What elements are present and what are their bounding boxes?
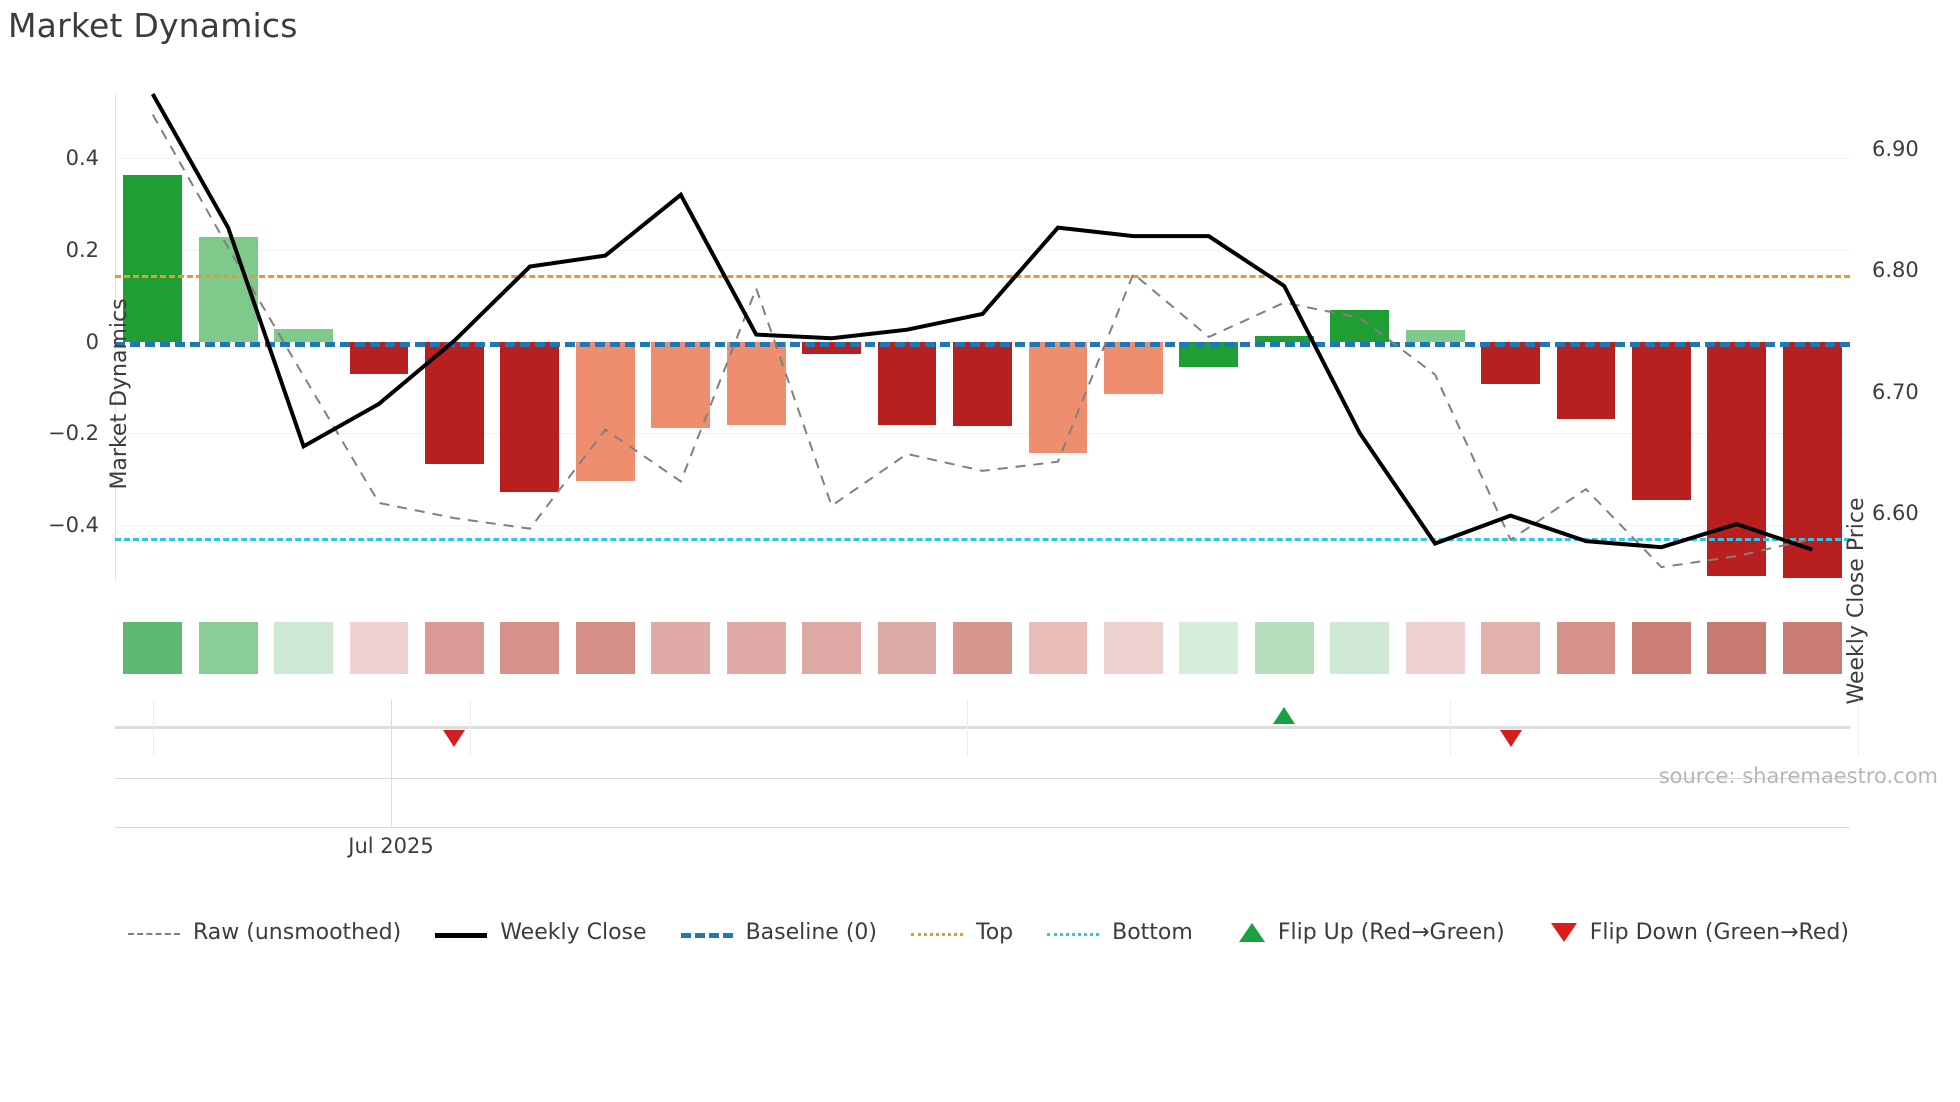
triangle-down-icon: [1551, 923, 1577, 942]
chart-root: Market Dynamics 0.40.20−0.2−0.4 6.906.80…: [0, 0, 1960, 1102]
legend-item-flip-down-green-red[interactable]: Flip Down (Green→Red): [1539, 920, 1849, 945]
flip-panel-gridline: [1450, 700, 1451, 756]
heatmap-cell-w23[interactable]: [1783, 622, 1842, 674]
legend-line-swatch: [435, 933, 487, 938]
line-series: [115, 94, 1850, 580]
heatmap-cell-w2[interactable]: [199, 622, 258, 674]
legend-label: Top: [976, 920, 1013, 945]
source-note: source: sharemaestro.com: [1659, 764, 1938, 788]
legend-swatch: [681, 924, 733, 942]
flip-marker-up[interactable]: [1273, 707, 1295, 724]
legend-line-swatch: [911, 933, 963, 936]
legend-item-bottom[interactable]: Bottom: [1047, 920, 1193, 945]
legend-label: Weekly Close: [500, 920, 646, 945]
line-weekly-close: [153, 94, 1813, 550]
heatmap-cell-w7[interactable]: [576, 622, 635, 674]
legend-line-swatch: [681, 933, 733, 938]
x-tick-mark-jul: [391, 700, 392, 828]
heatmap-cell-w4[interactable]: [350, 622, 409, 674]
heatmap-cell-w18[interactable]: [1406, 622, 1465, 674]
regime-heatmap-strip: [115, 616, 1850, 676]
heatmap-cell-w5[interactable]: [425, 622, 484, 674]
x-tick-label-jul: Jul 2025: [348, 834, 433, 858]
right-tick-label: 6.70: [1872, 380, 1919, 404]
heatmap-cell-w10[interactable]: [802, 622, 861, 674]
heatmap-cell-w9[interactable]: [727, 622, 786, 674]
heatmap-cell-w22[interactable]: [1707, 622, 1766, 674]
legend-label: Flip Up (Red→Green): [1278, 920, 1505, 945]
left-tick-label: 0.2: [19, 238, 99, 262]
heatmap-cell-w11[interactable]: [878, 622, 937, 674]
right-tick-label: 6.90: [1872, 137, 1919, 161]
x-axis-panel: Jul 2025: [115, 778, 1850, 828]
legend-swatch: [435, 924, 487, 942]
left-tick-label: −0.2: [19, 421, 99, 445]
flip-panel-gridline: [967, 700, 968, 756]
line-raw-unsmoothed: [153, 115, 1813, 568]
heatmap-cell-w12[interactable]: [953, 622, 1012, 674]
flip-panel-gridline: [470, 700, 471, 756]
flip-marker-down[interactable]: [1500, 730, 1522, 747]
heatmap-cell-w1[interactable]: [123, 622, 182, 674]
bottom-axis-spine: [115, 827, 1850, 828]
legend-swatch: [1047, 924, 1099, 942]
legend-label: Flip Down (Green→Red): [1590, 920, 1849, 945]
heatmap-cell-w15[interactable]: [1179, 622, 1238, 674]
legend-item-weekly-close[interactable]: Weekly Close: [435, 920, 646, 945]
flip-panel-gridline: [153, 700, 154, 756]
right-tick-label: 6.80: [1872, 258, 1919, 282]
flip-marker-panel: [115, 700, 1850, 778]
heatmap-cell-w19[interactable]: [1481, 622, 1540, 674]
heatmap-cell-w3[interactable]: [274, 622, 333, 674]
legend-item-top[interactable]: Top: [911, 920, 1013, 945]
axis-rule-upper: [115, 778, 1850, 779]
flip-marker-down[interactable]: [443, 730, 465, 747]
legend-label: Baseline (0): [746, 920, 877, 945]
left-tick-label: 0.4: [19, 146, 99, 170]
heatmap-cell-w14[interactable]: [1104, 622, 1163, 674]
heatmap-cell-w21[interactable]: [1632, 622, 1691, 674]
legend-item-baseline-0[interactable]: Baseline (0): [681, 920, 877, 945]
page-title: Market Dynamics: [8, 6, 298, 45]
flip-panel-gridline: [1858, 700, 1859, 756]
legend-item-raw-unsmoothed[interactable]: Raw (unsmoothed): [128, 920, 401, 945]
left-axis-label: Market Dynamics: [107, 298, 132, 489]
legend-item-flip-up-red-green[interactable]: Flip Up (Red→Green): [1227, 920, 1505, 945]
heatmap-cell-w20[interactable]: [1557, 622, 1616, 674]
legend-label: Bottom: [1112, 920, 1193, 945]
legend-swatch: [128, 924, 180, 942]
legend-swatch: [911, 924, 963, 942]
left-tick-label: −0.4: [19, 513, 99, 537]
heatmap-cell-w8[interactable]: [651, 622, 710, 674]
main-chart-panel: 0.40.20−0.2−0.4 6.906.806.706.60 Market …: [115, 94, 1850, 580]
legend-label: Raw (unsmoothed): [193, 920, 401, 945]
heatmap-cell-w6[interactable]: [500, 622, 559, 674]
legend-line-swatch: [128, 933, 180, 935]
heatmap-cell-w16[interactable]: [1255, 622, 1314, 674]
right-tick-label: 6.60: [1872, 501, 1919, 525]
flip-baseline: [115, 726, 1850, 729]
legend: Raw (unsmoothed)Weekly CloseBaseline (0)…: [128, 920, 1883, 945]
triangle-up-icon: [1239, 923, 1265, 942]
heatmap-cell-w13[interactable]: [1029, 622, 1088, 674]
heatmap-cell-w17[interactable]: [1330, 622, 1389, 674]
left-tick-label: 0: [19, 330, 99, 354]
legend-line-swatch: [1047, 933, 1099, 936]
